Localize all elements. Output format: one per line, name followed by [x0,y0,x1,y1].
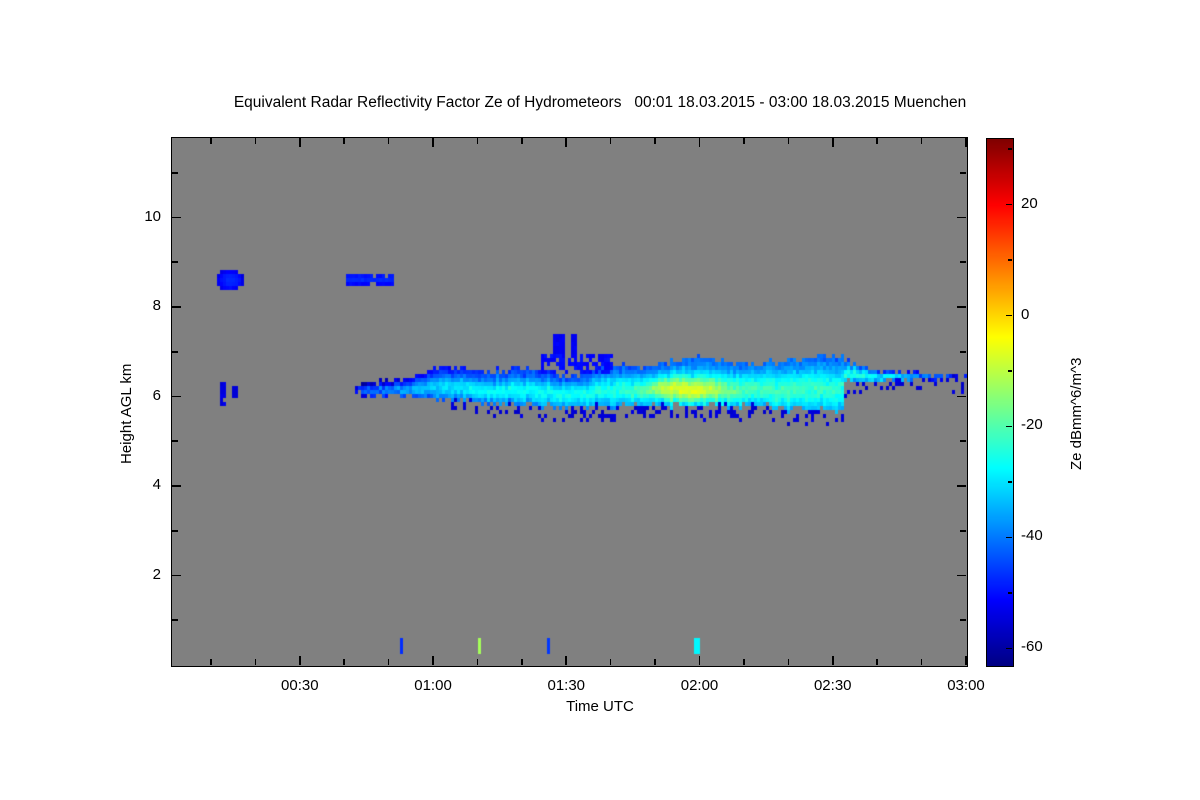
x-tick-minor-top [521,138,523,144]
x-tick-minor [921,659,923,665]
radar-reflectivity-figure: Equivalent Radar Reflectivity Factor Ze … [0,0,1200,800]
colorbar-title: Ze dBmm^6/m^3 [1068,358,1085,470]
colorbar-tick-minor [1008,592,1012,594]
y-axis-title: Height AGL km [118,364,135,464]
x-tick-label: 01:30 [516,677,616,694]
x-tick-minor-top [654,138,656,144]
y-tick-minor [172,530,178,532]
y-tick-major-right [957,575,966,577]
colorbar-tick-label: 20 [1021,195,1038,212]
x-tick-minor-top [255,138,257,144]
colorbar-tick-minor [1008,481,1012,483]
colorbar-tick-label: -20 [1021,416,1043,433]
y-tick-major-right [957,217,966,219]
x-tick-minor [343,659,345,665]
x-tick-minor [477,659,479,665]
y-tick-minor-right [960,351,966,353]
colorbar-tick-label: 0 [1021,306,1029,323]
y-tick-minor [172,619,178,621]
y-tick-major [172,485,181,487]
x-tick-minor-top [210,138,212,144]
colorbar-gradient [987,139,1013,666]
x-tick-label: 02:00 [650,677,750,694]
y-tick-minor [172,172,178,174]
x-tick-minor [743,659,745,665]
y-tick-minor-right [960,440,966,442]
x-tick-major [565,656,567,665]
x-tick-minor [255,659,257,665]
y-tick-major [172,575,181,577]
colorbar-tick [1006,204,1012,206]
colorbar[interactable] [986,138,1014,667]
x-tick-minor [788,659,790,665]
x-tick-minor [388,659,390,665]
y-tick-label: 2 [109,566,161,583]
reflectivity-heatmap [172,138,967,666]
y-tick-minor [172,351,178,353]
x-tick-label: 03:00 [916,677,1016,694]
x-tick-minor [210,659,212,665]
colorbar-tick [1006,426,1012,428]
x-tick-minor-top [788,138,790,144]
y-tick-major-right [957,396,966,398]
y-tick-major [172,306,181,308]
colorbar-tick [1006,315,1012,317]
colorbar-tick-label: -60 [1021,638,1043,655]
figure-title: Equivalent Radar Reflectivity Factor Ze … [0,94,1200,112]
x-tick-minor [610,659,612,665]
y-tick-minor [172,440,178,442]
x-tick-major-top [432,138,434,147]
x-tick-minor-top [610,138,612,144]
x-tick-minor-top [388,138,390,144]
x-axis-title: Time UTC [0,698,1200,715]
x-tick-major-top [565,138,567,147]
x-tick-major [965,656,967,665]
y-tick-minor-right [960,530,966,532]
colorbar-tick [1006,648,1012,650]
x-tick-minor-top [921,138,923,144]
x-tick-minor-top [477,138,479,144]
y-tick-minor-right [960,172,966,174]
y-tick-label: 4 [109,476,161,493]
x-tick-major-top [832,138,834,147]
colorbar-tick-label: -40 [1021,527,1043,544]
x-tick-minor [521,659,523,665]
colorbar-tick-minor [1008,370,1012,372]
x-tick-minor-top [743,138,745,144]
y-tick-minor-right [960,261,966,263]
y-tick-minor-right [960,619,966,621]
colorbar-tick-minor [1008,148,1012,150]
x-tick-major [299,656,301,665]
y-tick-major-right [957,485,966,487]
x-tick-label: 00:30 [250,677,350,694]
x-tick-label: 02:30 [783,677,883,694]
x-tick-major-top [699,138,701,147]
x-tick-major-top [965,138,967,147]
x-tick-minor-top [876,138,878,144]
x-tick-major-top [299,138,301,147]
y-tick-label: 8 [109,297,161,314]
y-tick-label: 6 [109,387,161,404]
colorbar-tick [1006,537,1012,539]
plot-area[interactable] [171,137,968,667]
x-tick-major [432,656,434,665]
y-tick-label: 10 [109,208,161,225]
y-tick-major-right [957,306,966,308]
x-tick-minor-top [343,138,345,144]
y-tick-major [172,396,181,398]
x-tick-major [699,656,701,665]
x-tick-label: 01:00 [383,677,483,694]
x-tick-major [832,656,834,665]
y-tick-minor [172,261,178,263]
x-tick-minor [876,659,878,665]
colorbar-tick-minor [1008,259,1012,261]
x-tick-minor [654,659,656,665]
y-tick-major [172,217,181,219]
